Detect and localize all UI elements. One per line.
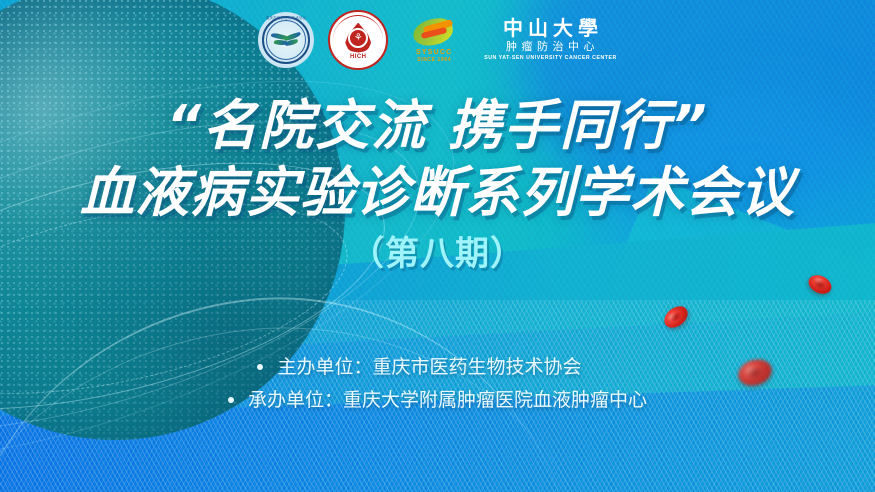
- bullet-dot-icon: [257, 364, 263, 370]
- logo-row: 重庆市医药生物技术协会 ⚘ HICH SYSUCC SINCE 1964 中山大…: [0, 10, 875, 70]
- wordmark-line-cn-center: 肿瘤防治中心: [502, 40, 599, 54]
- microscope-icon: ⚘: [354, 32, 363, 43]
- hich-logo: ⚘ HICH: [328, 10, 388, 70]
- poster-title-line-2: 血液病实验诊断系列学术会议: [0, 162, 875, 224]
- sun-yat-sen-university-wordmark: 中山大學 肿瘤防治中心 SUN YAT-SEN UNIVERSITY CANCE…: [484, 18, 617, 62]
- association-seal-logo: 重庆市医药生物技术协会: [258, 12, 314, 68]
- poster-title-line-1: “名院交流 携手同行”: [0, 96, 875, 156]
- seal-ring-text: 重庆市医药生物技术协会: [258, 15, 314, 20]
- sysucc-acronym: SYSUCC: [416, 49, 452, 57]
- poster-title-block: “名院交流 携手同行” 血液病实验诊断系列学术会议 （第八期）: [0, 96, 875, 274]
- sysucc-leaf-logo: SYSUCC SINCE 1964: [402, 12, 466, 68]
- conference-poster: 重庆市医药生物技术协会 ⚘ HICH SYSUCC SINCE 1964 中山大…: [0, 0, 875, 492]
- poster-subtitle-session: （第八期）: [0, 234, 875, 274]
- organizer-row-coorganizer: 承办单位：重庆大学附属肿瘤医院血液肿瘤中心: [228, 387, 647, 413]
- seal-emblem-icon: [271, 32, 301, 48]
- organizer-coorganizer-label: 承办单位：重庆大学附属肿瘤医院血液肿瘤中心: [248, 387, 647, 413]
- sysucc-since: SINCE 1964: [417, 57, 451, 64]
- organizer-row-host: 主办单位：重庆市医药生物技术协会: [257, 354, 581, 380]
- wordmark-line-cn-university: 中山大學: [498, 18, 603, 40]
- bullet-dot-icon: [228, 397, 234, 403]
- organizer-list: 主办单位：重庆市医药生物技术协会 承办单位：重庆大学附属肿瘤医院血液肿瘤中心: [0, 354, 875, 413]
- organizer-host-label: 主办单位：重庆市医药生物技术协会: [277, 354, 581, 380]
- wordmark-line-en: SUN YAT-SEN UNIVERSITY CANCER CENTER: [484, 54, 617, 62]
- sysucc-leaf-icon: [411, 17, 457, 49]
